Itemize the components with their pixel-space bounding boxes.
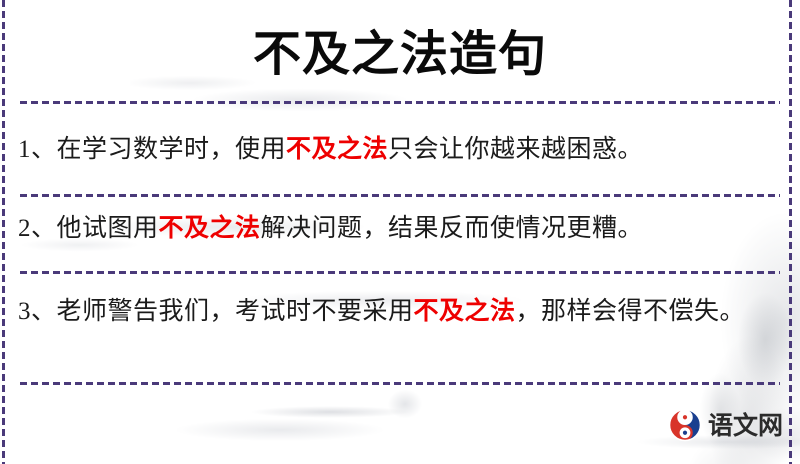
sentence-2-number: 2、: [18, 215, 57, 242]
sentence-1-text-after: 只会让你越来越困惑。: [388, 136, 643, 163]
dashed-divider-1: [20, 101, 780, 104]
sentence-2-text-before: 他试图用: [57, 215, 159, 242]
dashed-divider-3: [20, 271, 780, 274]
sentence-item-3: 3、老师警告我们，考试时不要采用不及之法，那样会得不偿失。: [18, 288, 778, 334]
sentence-1-text-before: 在学习数学时，使用: [57, 136, 287, 163]
sentence-item-2: 2、他试图用不及之法解决问题，结果反而使情况更糟。: [18, 205, 778, 251]
page-title: 不及之法造句: [0, 25, 800, 83]
yinyang-fish-circle-icon: [668, 408, 702, 442]
sentence-3-number: 3、: [18, 298, 57, 325]
sentence-1-number: 1、: [18, 136, 57, 163]
dashed-divider-4: [20, 382, 780, 385]
sentence-3-text-after: ，那样会得不偿失。: [516, 298, 746, 325]
sentence-3-keyword: 不及之法: [414, 296, 516, 325]
sentence-2-keyword: 不及之法: [159, 213, 261, 242]
ink-wash-boat-watermark: [150, 388, 510, 448]
sentence-item-1: 1、在学习数学时，使用不及之法只会让你越来越困惑。: [18, 126, 778, 172]
dashed-divider-2: [20, 194, 780, 197]
sentence-3-text-before: 老师警告我们，考试时不要采用: [57, 298, 414, 325]
site-watermark-label: 语文网: [708, 413, 783, 438]
courseware-slide: 不及之法造句 1、在学习数学时，使用不及之法只会让你越来越困惑。 2、他试图用不…: [0, 0, 800, 464]
sentence-2-text-after: 解决问题，结果反而使情况更糟。: [261, 215, 644, 242]
sentence-1-keyword: 不及之法: [286, 134, 388, 163]
site-watermark: 语文网: [668, 408, 783, 442]
